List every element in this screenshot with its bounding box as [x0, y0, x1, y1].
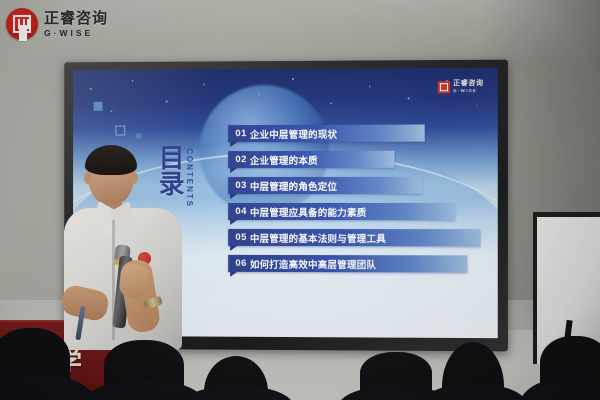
- zhengrui-circle-logo-icon: [6, 8, 38, 40]
- agenda-item: 03 中层管理的角色定位: [228, 177, 422, 194]
- agenda-item-number: 01: [235, 128, 247, 139]
- agenda-item-label: 如何打造高效中高层管理团队: [250, 257, 376, 271]
- watermark-name-en: G·WISE: [453, 89, 483, 94]
- slide-square-decor: [115, 126, 125, 136]
- presenter-hair: [85, 145, 137, 175]
- agenda-item-label: 企业管理的本质: [250, 153, 318, 167]
- photo-scene: 正睿咨询 G·WISE 目录 CONTENTS 01 企业中层管理的现状 02 …: [0, 0, 600, 400]
- agenda-item: 06 如何打造高效中高层管理团队: [228, 255, 467, 273]
- brand-name-cn: 正睿咨询: [44, 11, 108, 26]
- audience-shoulders: [0, 374, 96, 400]
- agenda-item-label: 中层管理的角色定位: [250, 179, 337, 193]
- slide-watermark-logo: 正睿咨询 G·WISE: [438, 80, 484, 93]
- agenda-item-label: 中层管理的基本法则与管理工具: [250, 231, 386, 245]
- agenda-item-number: 02: [235, 154, 247, 165]
- agenda-item-label: 中层管理应具备的能力素质: [250, 205, 367, 219]
- logo-glyph: [13, 15, 31, 33]
- agenda-item: 05 中层管理的基本法则与管理工具: [228, 229, 480, 246]
- audience-shoulders: [180, 386, 294, 400]
- slide-agenda-list: 01 企业中层管理的现状 02 企业管理的本质 03 中层管理的角色定位 04 …: [228, 125, 480, 282]
- agenda-item: 04 中层管理应具备的能力素质: [228, 203, 455, 220]
- agenda-item-number: 06: [235, 258, 247, 269]
- agenda-item-label: 企业中层管理的现状: [250, 127, 337, 141]
- audience-shoulders: [420, 384, 528, 400]
- brand-logo: 正睿咨询 G·WISE: [6, 8, 108, 40]
- zhengrui-square-logo-icon: [438, 81, 450, 93]
- agenda-item-number: 03: [235, 180, 247, 191]
- brand-name-en: G·WISE: [44, 29, 108, 38]
- audience-row: [0, 300, 600, 400]
- agenda-item: 02 企业管理的本质: [228, 151, 394, 168]
- watermark-name-cn: 正睿咨询: [453, 80, 483, 87]
- audience-shoulders: [520, 378, 600, 400]
- agenda-item-number: 05: [235, 232, 247, 243]
- slide-square-decor: [94, 102, 103, 111]
- agenda-item-number: 04: [235, 206, 247, 217]
- presenter-ear-left: [84, 172, 91, 184]
- agenda-item: 01 企业中层管理的现状: [228, 125, 424, 143]
- slide-square-decor: [136, 134, 141, 139]
- presenter-ear-right: [131, 172, 138, 184]
